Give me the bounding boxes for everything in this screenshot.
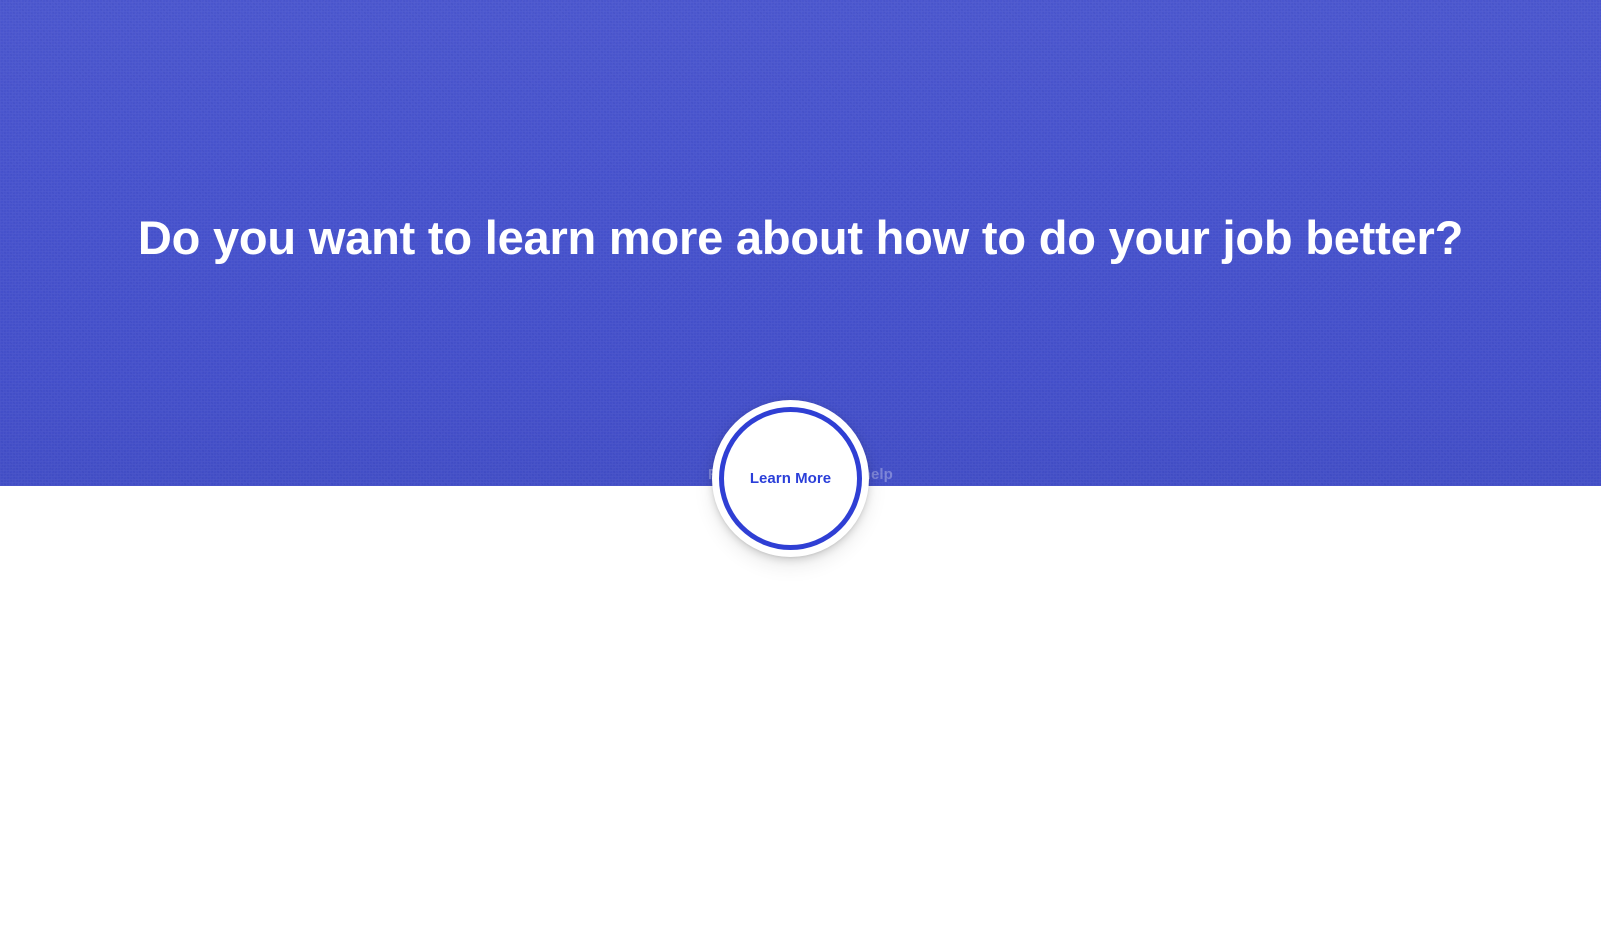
learn-more-button[interactable]: Learn More (719, 407, 862, 550)
learn-more-button-label: Learn More (750, 470, 831, 488)
learn-more-button-wrapper: Learn More (712, 400, 869, 557)
page-title: Do you want to learn more about how to d… (0, 208, 1601, 268)
cta-page: Do you want to learn more about how to d… (0, 0, 1601, 950)
